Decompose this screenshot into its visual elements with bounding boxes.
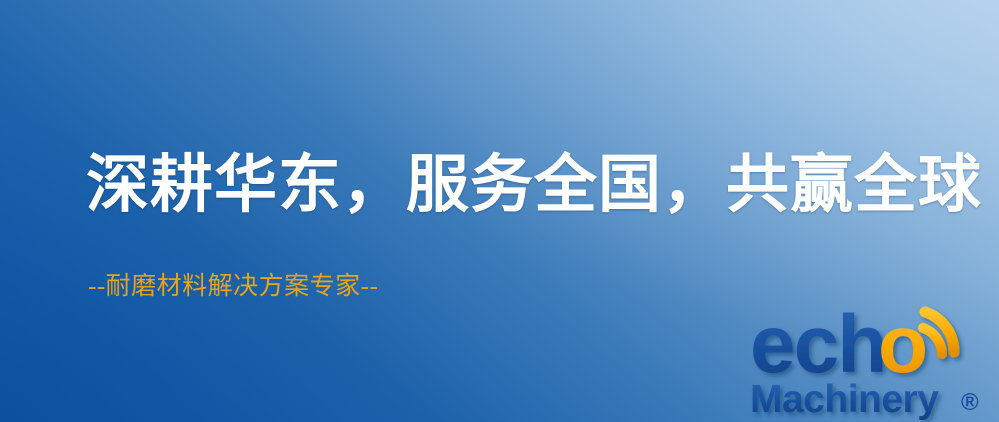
logo-wordmark-ech: ech <box>750 299 885 390</box>
echo-machinery-logo: ech o Machinery ® <box>748 296 999 422</box>
logo-wordmark-o: o <box>878 299 928 390</box>
banner-subtitle: --耐磨材料解决方案专家-- <box>88 266 378 302</box>
registered-trademark-icon: ® <box>961 389 979 416</box>
page-title: 深耕华东，服务全国，共赢全球 <box>86 152 982 218</box>
promo-banner: 深耕华东，服务全国，共赢全球 --耐磨材料解决方案专家-- <box>0 0 999 422</box>
logo-subword-machinery: Machinery <box>750 378 939 421</box>
